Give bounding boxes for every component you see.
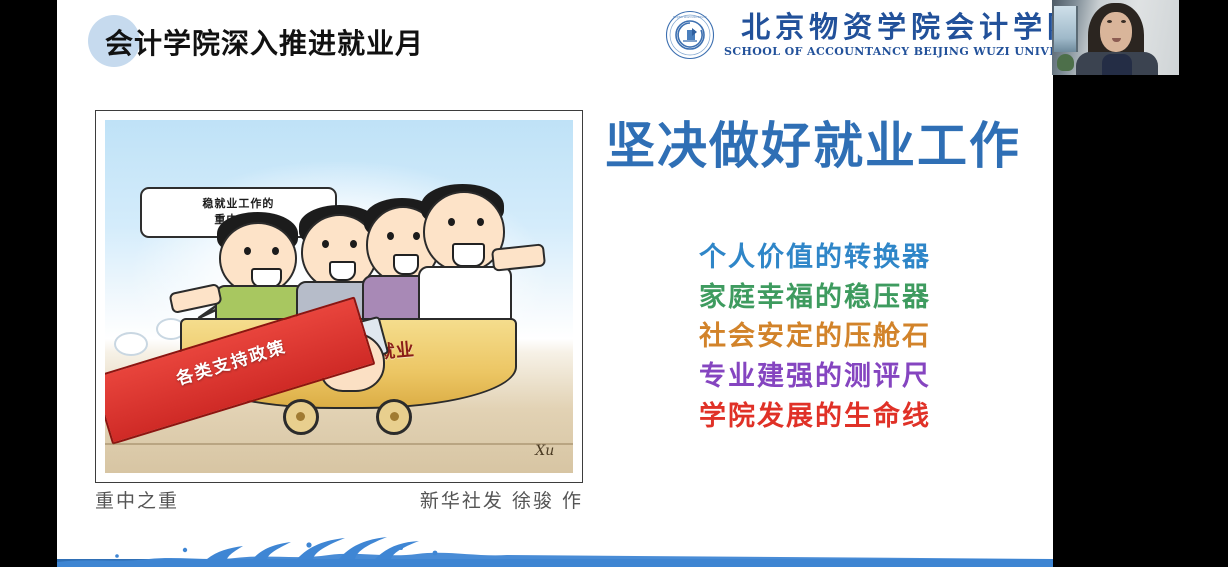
cart-wheel [283, 399, 319, 435]
value-list-item-2: 家庭幸福的稳压器 [605, 278, 1025, 318]
ground-line [105, 443, 573, 445]
logo-text-group: 北京物资学院会计学院 SCHOOL OF ACCOUNTANCY BEIJING… [724, 12, 1053, 57]
logo-chinese-name: 北京物资学院会计学院 [741, 12, 1053, 42]
value-list-item-1: 个人价值的转换器 [605, 238, 1025, 278]
value-list-item-4: 专业建强的测评尺 [605, 357, 1025, 397]
value-list-item-5: 学院发展的生命线 [605, 397, 1025, 437]
caption-left: 重中之重 [95, 486, 179, 513]
webcam-plant [1057, 54, 1074, 71]
university-logo: BEIJING WUZI UNIVERSITY 北京物资学院会计学院 SCHOO… [665, 10, 1053, 60]
logo-english-name: SCHOOL OF ACCOUNTANCY BEIJING WUZI UNIVE… [724, 45, 1053, 58]
presenter-eye [1107, 20, 1112, 23]
presentation-slide: 会计学院深入推进就业月 BEIJING WUZI UNIVERSITY 北京物资… [57, 0, 1053, 567]
cloud-puff [114, 332, 148, 356]
image-caption-row: 重中之重 新华社发 徐骏 作 [95, 486, 583, 513]
page-title: 会计学院深入推进就业月 [105, 22, 424, 62]
bottom-wave-decoration [57, 533, 1053, 567]
value-list: 个人价值的转换器 家庭幸福的稳压器 社会安定的压舱石 专业建强的测评尺 学院发展… [605, 238, 1025, 436]
university-seal-icon: BEIJING WUZI UNIVERSITY [665, 10, 715, 60]
artist-signature: Xu [535, 443, 554, 459]
presenter-shirt [1102, 54, 1132, 75]
value-list-item-3: 社会安定的压舱石 [605, 317, 1025, 357]
presenter-face [1100, 12, 1132, 52]
screen-root: 会计学院深入推进就业月 BEIJING WUZI UNIVERSITY 北京物资… [0, 0, 1228, 567]
cartoon-image-frame: 稳就业工作的 重中之重 [95, 110, 583, 483]
caption-right: 新华社发 徐骏 作 [420, 486, 583, 513]
cartoon-kid [414, 184, 526, 339]
slide-headline: 坚决做好就业工作 [605, 106, 1021, 178]
presenter-eye [1121, 20, 1126, 23]
cart-wheel [376, 399, 412, 435]
svg-text:BEIJING WUZI UNIVERSITY: BEIJING WUZI UNIVERSITY [673, 15, 707, 19]
presenter-webcam-video[interactable] [1052, 0, 1179, 75]
webcam-window [1054, 6, 1078, 52]
cartoon-illustration: 稳就业工作的 重中之重 [105, 120, 573, 473]
